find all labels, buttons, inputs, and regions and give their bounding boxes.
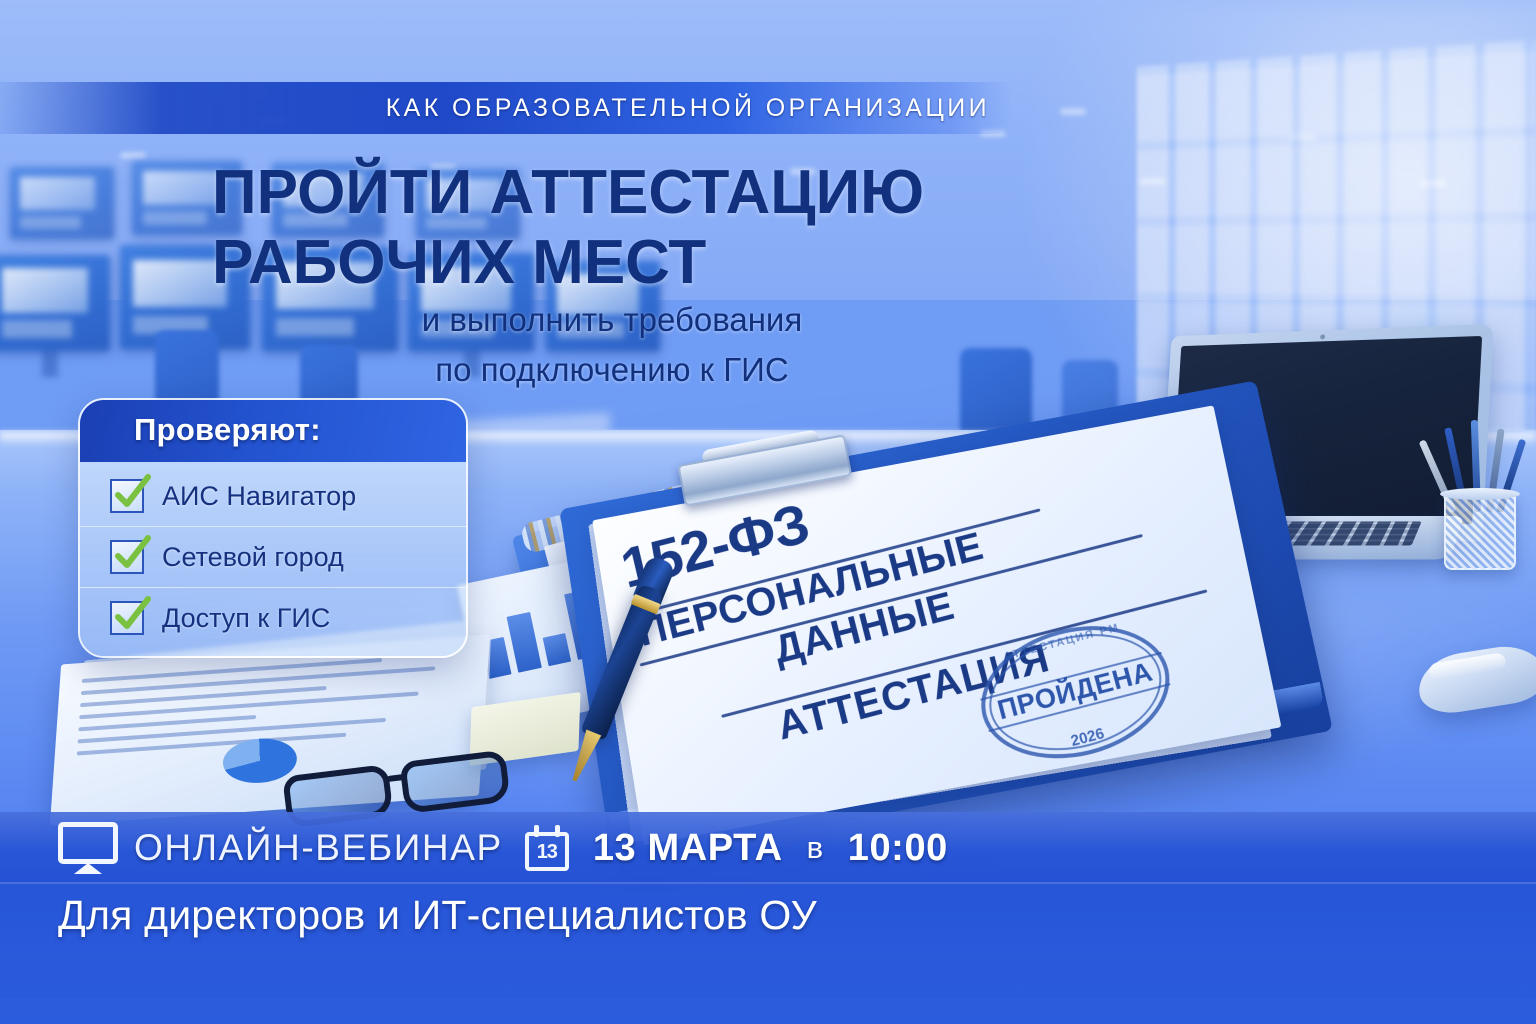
eyebrow-text: КАК ОБРАЗОВАТЕЛЬНОЙ ОРГАНИЗАЦИИ [386, 94, 990, 123]
checkbox-checked-icon[interactable] [110, 479, 144, 513]
page-title: ПРОЙТИ АТТЕСТАЦИЮ РАБОЧИХ МЕСТ [212, 158, 1012, 298]
subtitle-line-1: и выполнить требования [212, 295, 1012, 345]
headline-line-2: РАБОЧИХ МЕСТ [212, 228, 1012, 298]
checklist-item-label: Доступ к ГИС [162, 603, 330, 634]
webcam-icon [1320, 334, 1325, 339]
checklist-title: Проверяют: [134, 412, 321, 447]
checklist-item-label: Сетевой город [162, 542, 344, 573]
pen-cup-body [1444, 494, 1516, 570]
calendar-day-number: 13 [525, 841, 569, 864]
checklist-card-header: Проверяют: [80, 400, 466, 462]
eyebrow-ribbon: КАК ОБРАЗОВАТЕЛЬНОЙ ОРГАНИЗАЦИИ [0, 82, 1012, 134]
checklist-item-gis-access[interactable]: Доступ к ГИС [80, 588, 466, 648]
promo-poster: 152-ФЗ ПЕРСОНАЛЬНЫЕ ДАННЫЕ АТТЕСТАЦИЯ АТ… [0, 0, 1536, 1024]
time-prefix: в [807, 830, 824, 866]
checkbox-checked-icon[interactable] [110, 601, 144, 635]
target-audience: Для директоров и ИТ-специалистов ОУ [58, 892, 817, 939]
headline-line-1: ПРОЙТИ АТТЕСТАЦИЮ [212, 158, 1012, 228]
checklist-item-ais-navigator[interactable]: АИС Навигатор [80, 466, 466, 527]
checklist-card-body: АИС Навигатор Сетевой город Доступ к ГИС [80, 462, 466, 656]
page-subtitle: и выполнить требования по подключению к … [212, 295, 1012, 394]
checklist-card: Проверяют: АИС Навигатор Сетевой город [78, 398, 468, 658]
calendar-icon: 13 [525, 825, 569, 871]
webinar-label: ОНЛАЙН-ВЕБИНАР [134, 827, 503, 869]
pen-cup-rim [1440, 488, 1520, 500]
monitor-icon [58, 822, 118, 874]
checkbox-checked-icon[interactable] [110, 540, 144, 574]
subtitle-line-2: по подключению к ГИС [212, 345, 1012, 395]
event-date: 13 МАРТА [593, 827, 783, 870]
checklist-item-label: АИС Навигатор [162, 481, 356, 512]
pen-holder [1438, 450, 1520, 570]
checklist-item-setevoy-gorod[interactable]: Сетевой город [80, 527, 466, 588]
footer-event-row: ОНЛАЙН-ВЕБИНАР 13 13 МАРТА в 10:00 [58, 822, 948, 874]
event-time: 10:00 [848, 827, 948, 870]
